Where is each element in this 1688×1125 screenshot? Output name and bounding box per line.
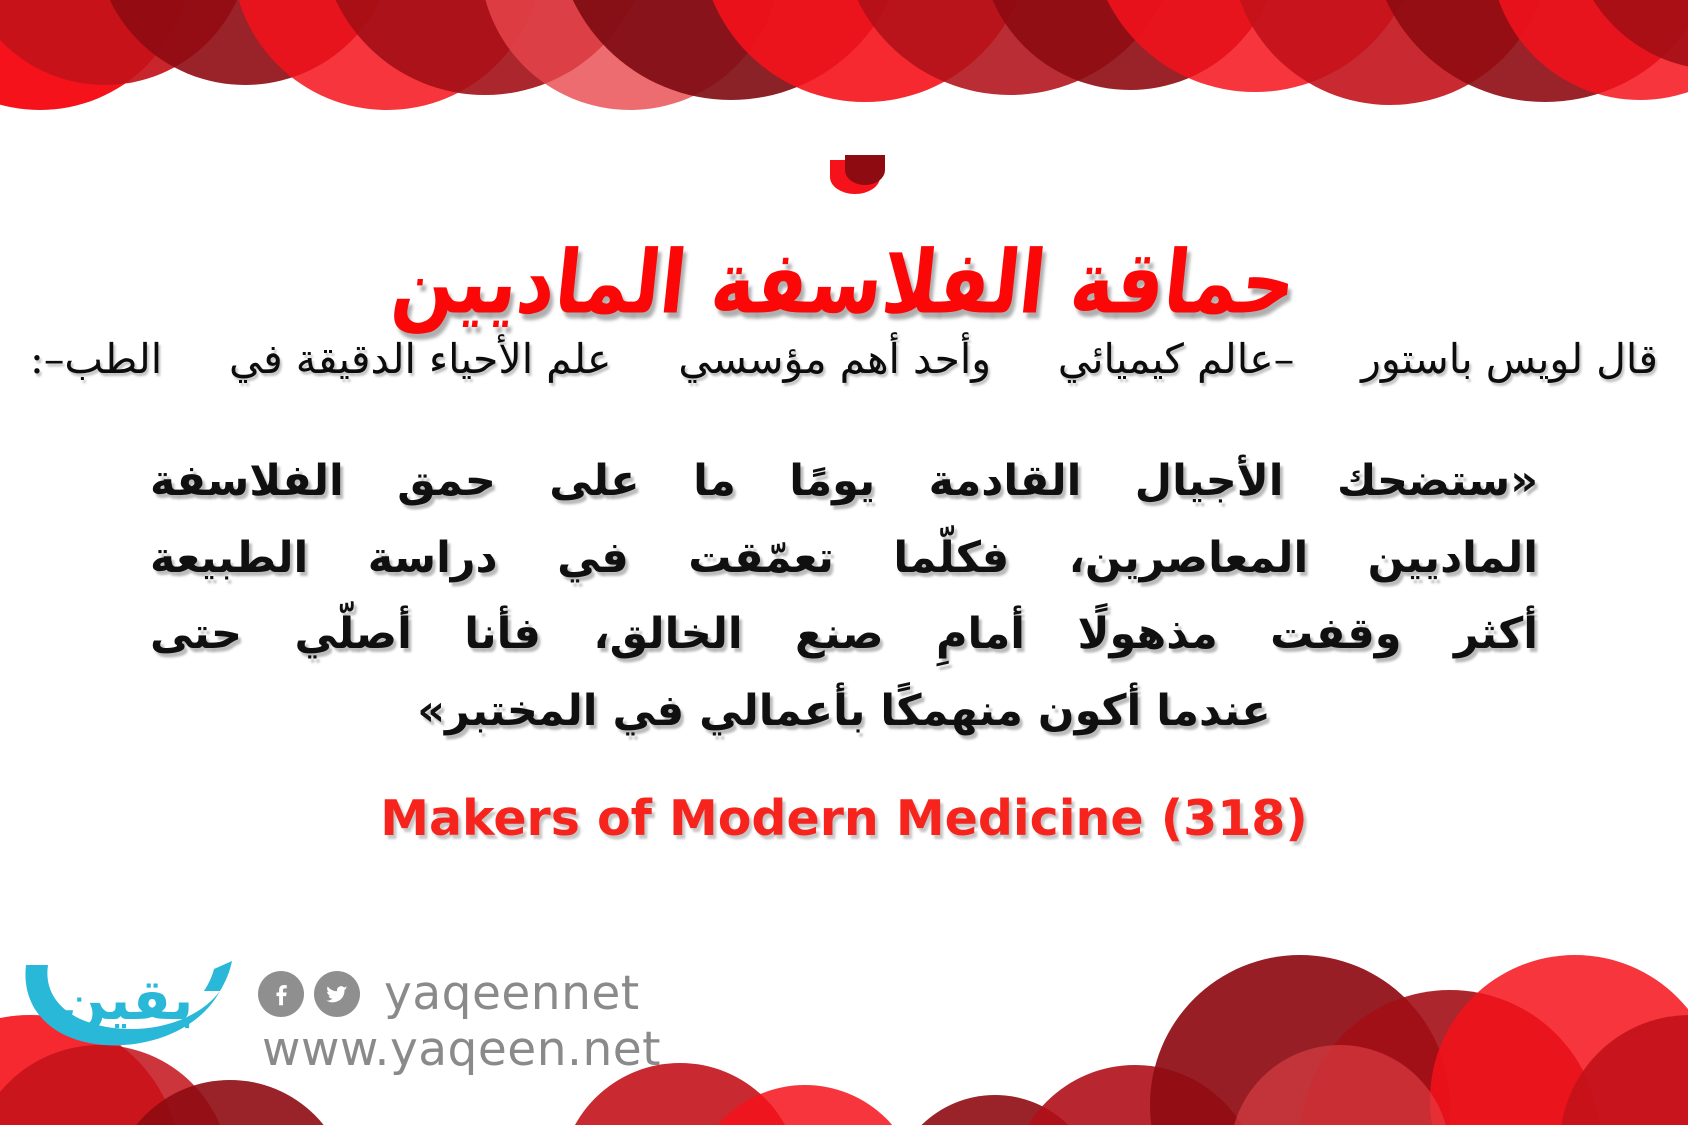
decor-circle bbox=[700, 0, 1030, 102]
decor-circle bbox=[1370, 0, 1688, 102]
decor-circle bbox=[1230, 0, 1550, 105]
decor-circle bbox=[232, 0, 542, 110]
decor-circle bbox=[320, 0, 650, 95]
quote-line: عندما أكون منهمكًا بأعمالي في المختبر» bbox=[150, 673, 1538, 750]
yaqeen-wordmark: يقين bbox=[59, 968, 194, 1033]
facebook-icon[interactable] bbox=[258, 971, 304, 1017]
intro-line: قال لويس باستور –عالم كيميائي وأحد أهم م… bbox=[30, 336, 1658, 383]
decor-circle bbox=[1570, 0, 1688, 70]
decor-circle bbox=[840, 0, 1180, 95]
intro-part: علم الأحياء الدقيقة في bbox=[229, 336, 612, 383]
quote-block: «ستضحك الأجيال القادمة يومًا ما على حمق … bbox=[150, 443, 1538, 749]
social-handle[interactable]: yaqeennet bbox=[384, 970, 640, 1017]
intro-part: –عالم كيميائي bbox=[1058, 336, 1294, 383]
intro-part: قال لويس باستور bbox=[1361, 336, 1658, 383]
yaqeen-logo[interactable]: يقين bbox=[18, 925, 254, 1053]
decor-circle bbox=[980, 0, 1280, 90]
top-decoration-band bbox=[0, 0, 1688, 175]
social-row: yaqeennet bbox=[258, 970, 640, 1017]
decor-circle bbox=[1090, 0, 1420, 92]
poster-card: حماقة الفلاسفة الماديين قال لويس باستور … bbox=[0, 0, 1688, 1125]
twitter-icon[interactable] bbox=[314, 971, 360, 1017]
source-citation: Makers of Modern Medicine (318) bbox=[0, 790, 1688, 847]
page-title: حماقة الفلاسفة الماديين bbox=[0, 239, 1688, 326]
quote-line: الماديين المعاصرين، فكلّما تعمّقت في درا… bbox=[150, 520, 1538, 597]
decor-circle bbox=[1490, 0, 1688, 100]
intro-part: وأحد أهم مؤسسي bbox=[678, 336, 991, 383]
decor-circle bbox=[95, 0, 395, 85]
decor-circle bbox=[0, 0, 250, 85]
quote-line: أكثر وقفت مذهولًا أمامِ صنع الخالق، فأنا… bbox=[150, 596, 1538, 673]
decor-circle bbox=[480, 0, 780, 110]
footer: يقين yaqeennet www.yaqeen.net bbox=[0, 895, 1688, 1125]
decor-circle bbox=[556, 0, 906, 100]
quote-line: «ستضحك الأجيال القادمة يومًا ما على حمق … bbox=[150, 443, 1538, 520]
website-url[interactable]: www.yaqeen.net bbox=[262, 1026, 661, 1073]
decor-circle bbox=[0, 0, 190, 110]
intro-part: الطب–: bbox=[30, 336, 162, 383]
